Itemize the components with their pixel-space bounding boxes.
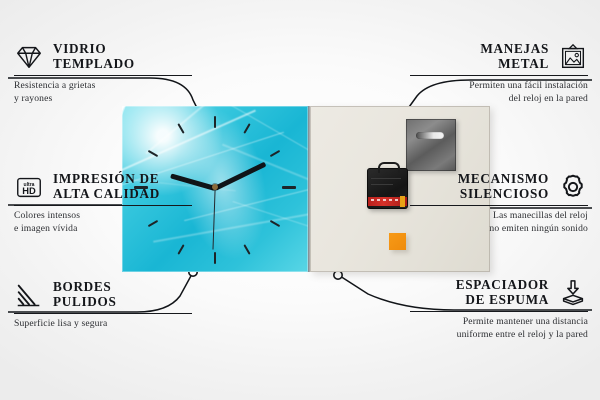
feature-rule bbox=[410, 311, 588, 312]
foam-spacer bbox=[389, 233, 406, 250]
feature-title-line1: BORDES bbox=[53, 280, 117, 295]
feature-desc-line1: Superficie lisa y segura bbox=[14, 318, 192, 331]
feature-rule bbox=[14, 205, 192, 206]
feature-desc-line1: Colores intensos bbox=[14, 210, 192, 223]
feature-title-line1: IMPRESIÓN DE bbox=[53, 172, 160, 187]
feature-espaciador-espuma: ESPACIADOR DE ESPUMA Permite mantener un… bbox=[410, 278, 588, 342]
feature-title-line1: VIDRIO bbox=[53, 42, 135, 57]
foam-spacer-icon bbox=[558, 278, 588, 308]
feature-desc-line2: del reloj en la pared bbox=[410, 93, 588, 106]
feature-mecanismo-silencioso: MECANISMO SILENCIOSO Las manecillas del … bbox=[410, 172, 588, 236]
feature-title-line2: PULIDOS bbox=[53, 295, 117, 310]
feature-desc-line1: Las manecillas del reloj bbox=[410, 210, 588, 223]
feature-rule bbox=[14, 75, 192, 76]
feature-desc-line2: no emiten ningún sonido bbox=[410, 223, 588, 236]
polished-edges-icon bbox=[14, 280, 44, 310]
mechanism-chip bbox=[400, 196, 405, 207]
mechanism-hook bbox=[378, 162, 400, 173]
feature-title-line2: DE ESPUMA bbox=[456, 293, 549, 308]
feature-desc-line1: Permiten una fácil instalación bbox=[410, 80, 588, 93]
feature-rule bbox=[410, 205, 588, 206]
feature-desc-line1: Resistencia a grietas bbox=[14, 80, 192, 93]
feature-title-line1: ESPACIADOR bbox=[456, 278, 549, 293]
leader-dot-6 bbox=[334, 271, 342, 279]
ultra-hd-badge-icon: ultra HD bbox=[14, 172, 44, 202]
metal-hanger-plate bbox=[406, 119, 456, 171]
hanger-slot bbox=[416, 132, 444, 139]
feature-title-line1: MECANISMO bbox=[458, 172, 549, 187]
clock-mechanism bbox=[367, 168, 408, 209]
feature-title-line2: METAL bbox=[480, 57, 549, 72]
feature-title-line2: ALTA CALIDAD bbox=[53, 187, 160, 202]
feature-desc-line2: y rayones bbox=[14, 93, 192, 106]
feature-bordes-pulidos: BORDES PULIDOS Superficie lisa y segura bbox=[14, 280, 192, 331]
feature-title-line2: SILENCIOSO bbox=[458, 187, 549, 202]
feature-title-line1: MANEJAS bbox=[480, 42, 549, 57]
feature-rule bbox=[410, 75, 588, 76]
picture-hanger-icon bbox=[558, 42, 588, 72]
feature-desc-line1: Permite mantener una distancia bbox=[410, 316, 588, 329]
feature-manejas-metal: MANEJAS METAL Permiten una fácil instala… bbox=[410, 42, 588, 106]
diamond-icon bbox=[14, 42, 44, 72]
feature-desc-line2: e imagen vívida bbox=[14, 223, 192, 236]
infographic-stage: VIDRIO TEMPLADO Resistencia a grietas y … bbox=[0, 0, 600, 400]
feature-vidrio-templado: VIDRIO TEMPLADO Resistencia a grietas y … bbox=[14, 42, 192, 106]
feature-title-line2: TEMPLADO bbox=[53, 57, 135, 72]
feature-desc-line2: uniforme entre el reloj y la pared bbox=[410, 329, 588, 342]
feature-impresion-alta-calidad: ultra HD IMPRESIÓN DE ALTA CALIDAD Color… bbox=[14, 172, 192, 236]
feature-rule bbox=[14, 313, 192, 314]
badge-large-text: HD bbox=[22, 186, 36, 196]
gear-icon bbox=[558, 172, 588, 202]
